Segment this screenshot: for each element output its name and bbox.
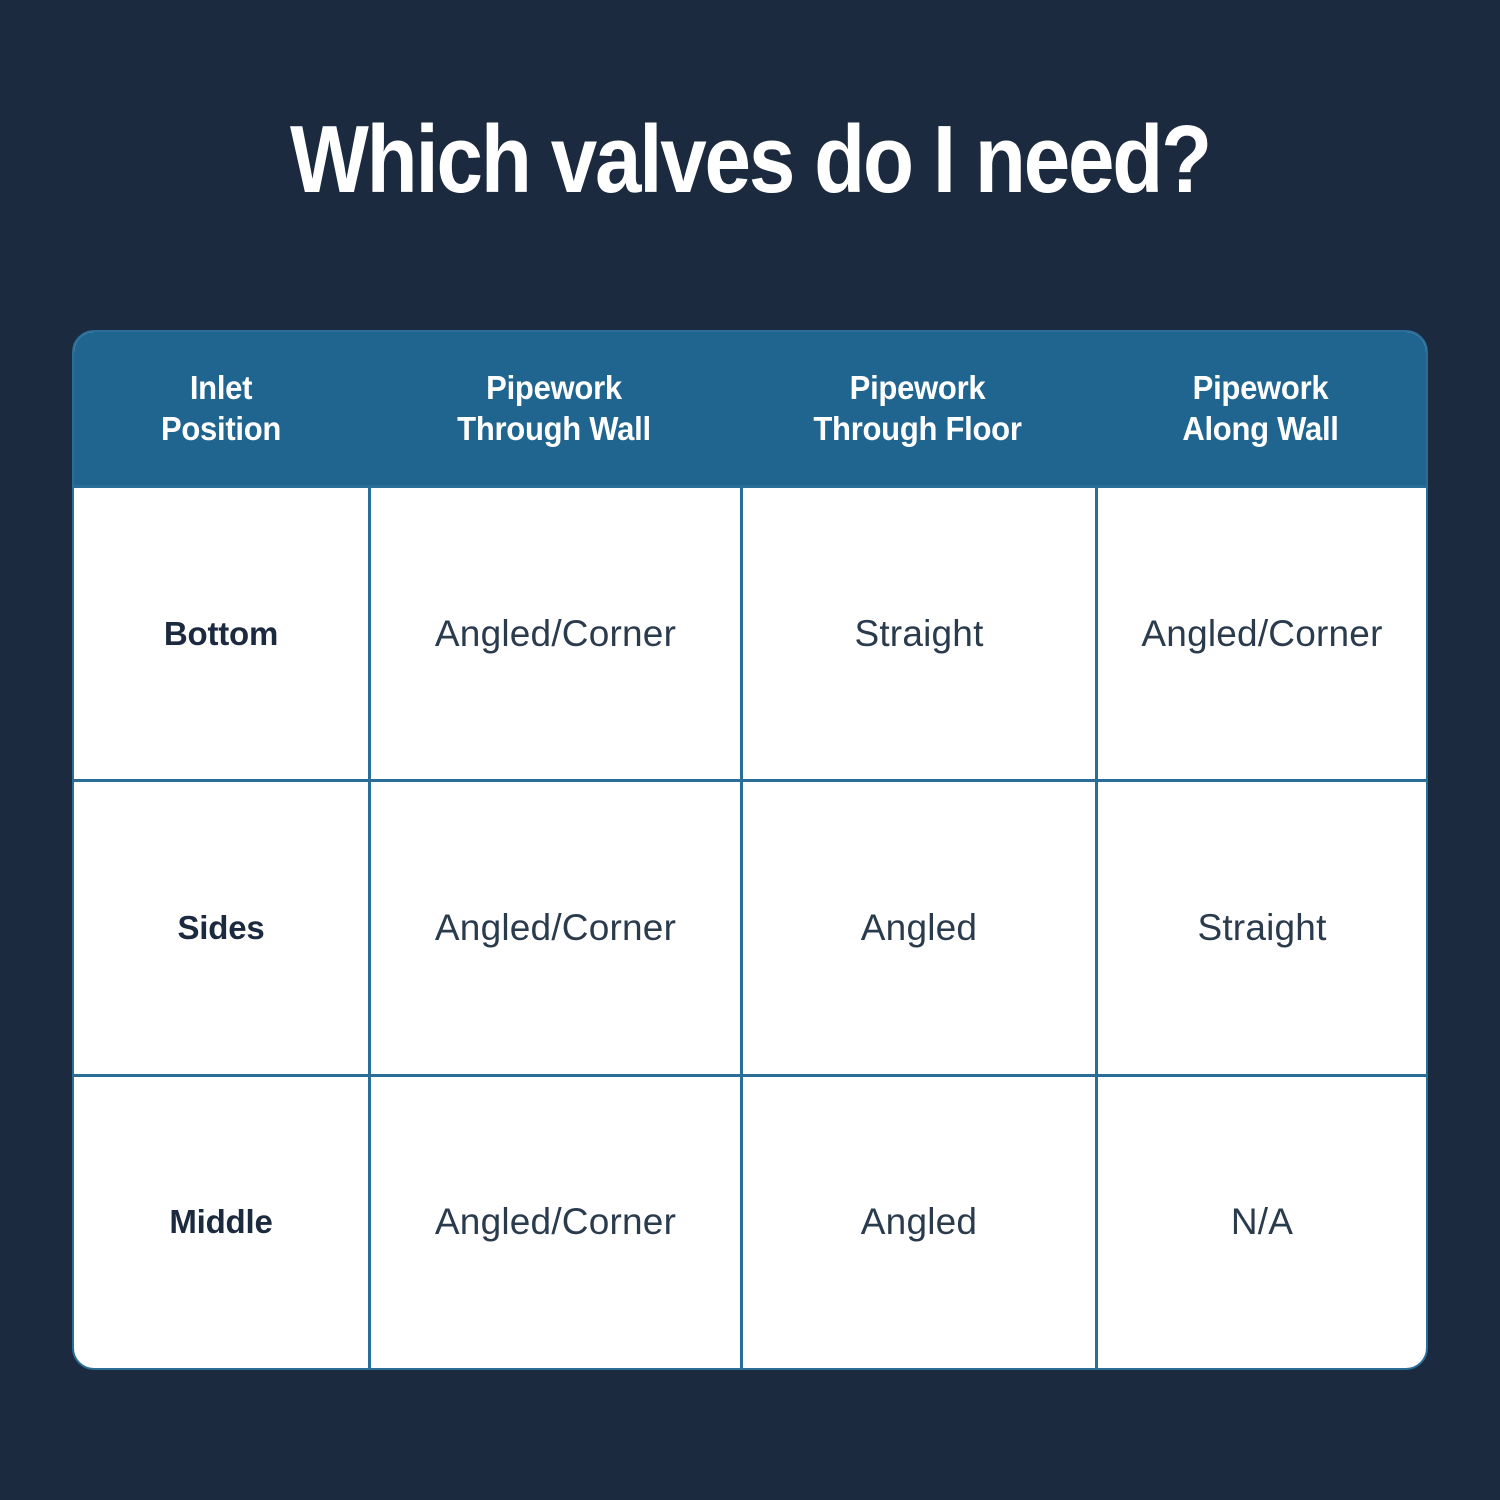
- table-row: Bottom Angled/Corner Straight Angled/Cor…: [74, 485, 1426, 779]
- table-row: Sides Angled/Corner Angled Straight: [74, 779, 1426, 1073]
- valve-selection-table: Inlet Position Pipework Through Wall Pip…: [72, 330, 1428, 1370]
- row-label-bottom: Bottom: [74, 488, 368, 779]
- column-header-line-1: Inlet: [190, 368, 252, 408]
- column-header-pipework-through-wall: Pipework Through Wall: [379, 332, 729, 485]
- column-header-line-2: Position: [161, 409, 281, 449]
- column-header-pipework-along-wall: Pipework Along Wall: [1105, 332, 1416, 485]
- column-header-line-1: Pipework: [850, 368, 986, 408]
- cell-middle-along-wall: N/A: [1095, 1077, 1426, 1368]
- cell-bottom-through-floor: Straight: [740, 488, 1095, 779]
- page-title: Which valves do I need?: [98, 112, 1403, 208]
- cell-bottom-along-wall: Angled/Corner: [1095, 488, 1426, 779]
- cell-sides-through-floor: Angled: [740, 782, 1095, 1073]
- table-row: Middle Angled/Corner Angled N/A: [74, 1074, 1426, 1368]
- column-header-line-2: Through Floor: [813, 409, 1021, 449]
- infographic-canvas: Which valves do I need? Inlet Position P…: [0, 0, 1500, 1500]
- column-header-pipework-through-floor: Pipework Through Floor: [751, 332, 1085, 485]
- row-label-sides: Sides: [74, 782, 368, 1073]
- column-header-line-2: Along Wall: [1182, 409, 1338, 449]
- column-header-line-2: Through Wall: [457, 409, 651, 449]
- cell-sides-through-wall: Angled/Corner: [368, 782, 740, 1073]
- row-label-middle: Middle: [74, 1077, 368, 1368]
- column-header-line-1: Pipework: [486, 368, 622, 408]
- cell-middle-through-wall: Angled/Corner: [368, 1077, 740, 1368]
- cell-sides-along-wall: Straight: [1095, 782, 1426, 1073]
- cell-bottom-through-wall: Angled/Corner: [368, 488, 740, 779]
- column-header-line-1: Pipework: [1193, 368, 1329, 408]
- table-header-row: Inlet Position Pipework Through Wall Pip…: [74, 332, 1426, 485]
- column-header-inlet-position: Inlet Position: [83, 332, 359, 485]
- cell-middle-through-floor: Angled: [740, 1077, 1095, 1368]
